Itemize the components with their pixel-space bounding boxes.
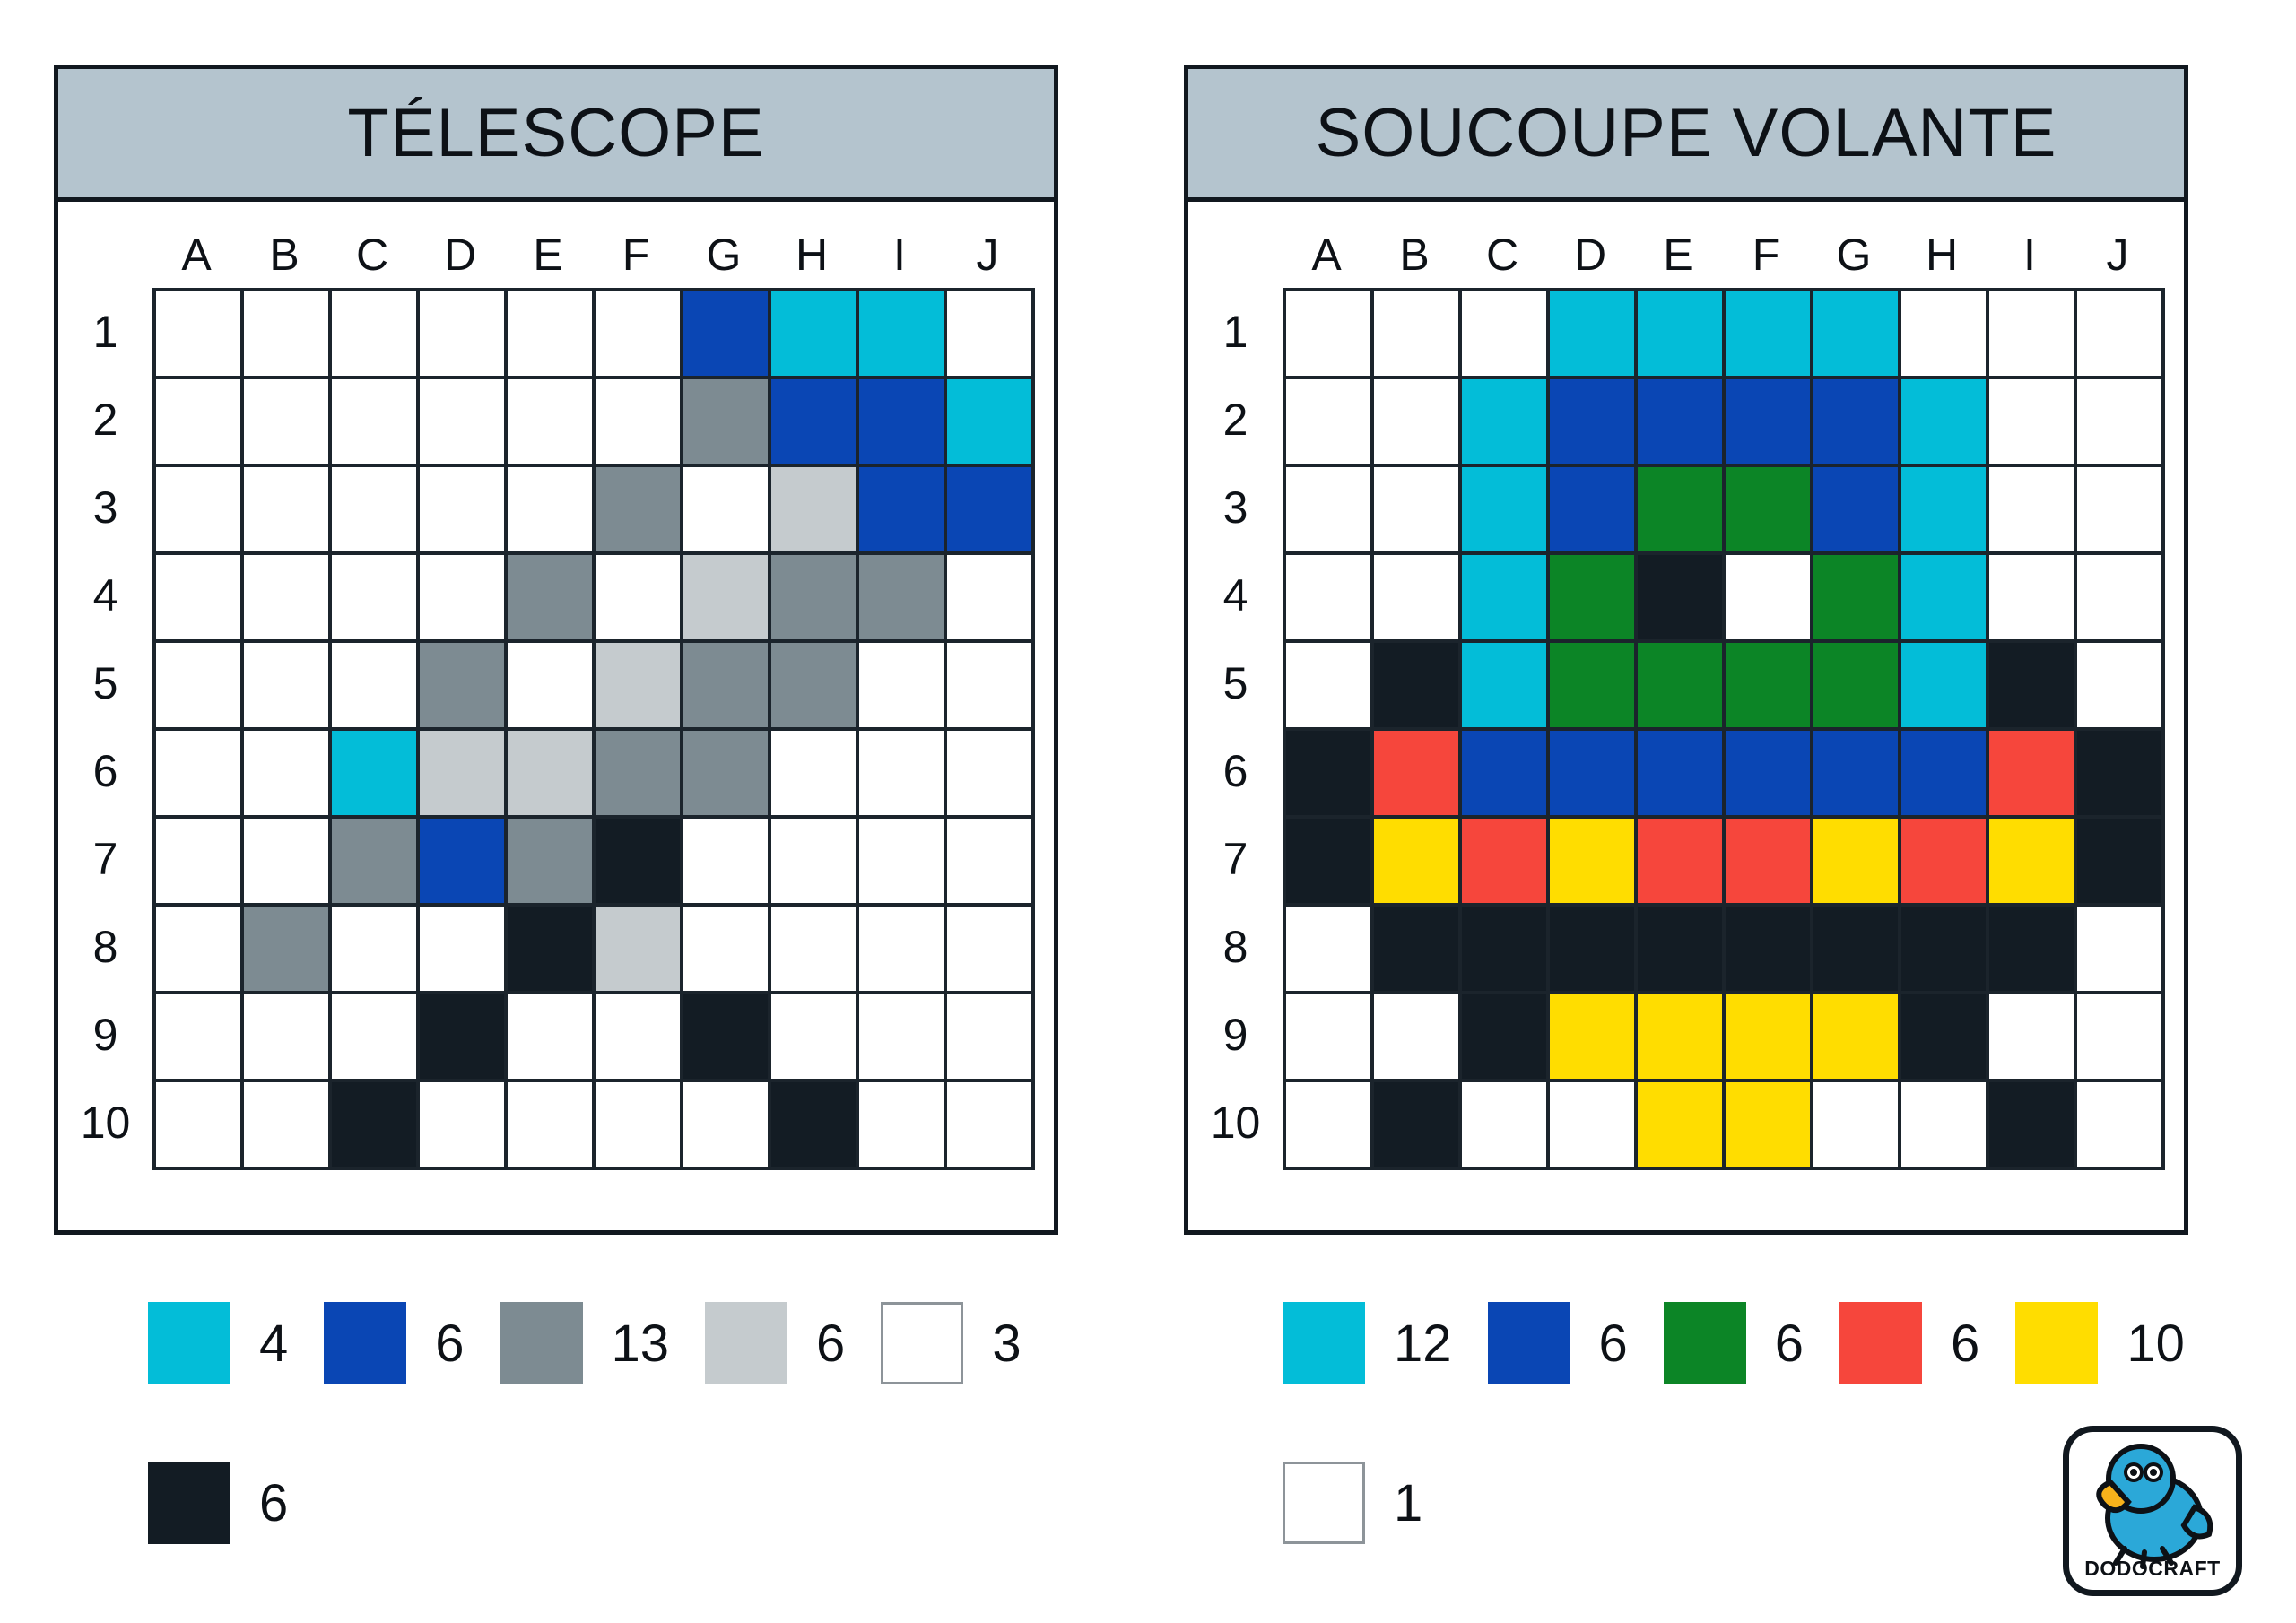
grid-cell-D8[interactable]: [1550, 907, 1638, 994]
grid-cell-D3[interactable]: [1550, 467, 1638, 555]
grid-cell-G10[interactable]: [1813, 1082, 1901, 1170]
grid-cell-E3[interactable]: [508, 467, 596, 555]
row-header-4: 4: [58, 551, 152, 639]
grid-cell-E2[interactable]: [1638, 379, 1726, 467]
grid-cell-I8[interactable]: [859, 907, 947, 994]
grid-cell-C4[interactable]: [332, 555, 420, 643]
grid-cell-J1[interactable]: [2077, 291, 2165, 379]
grid-cell-I3[interactable]: [859, 467, 947, 555]
grid-cell-J6[interactable]: [947, 731, 1035, 819]
grid-cell-A10[interactable]: [156, 1082, 244, 1170]
legend-soucoupe-row-2: 1: [1283, 1462, 1458, 1544]
grid-cell-D9[interactable]: [1550, 994, 1638, 1082]
grid-cell-B10[interactable]: [1374, 1082, 1462, 1170]
grid-cell-E2[interactable]: [508, 379, 596, 467]
grid-cell-C3[interactable]: [1462, 467, 1550, 555]
grid-cell-B1[interactable]: [244, 291, 332, 379]
grid-cell-F8[interactable]: [1726, 907, 1813, 994]
grid-cell-I1[interactable]: [859, 291, 947, 379]
legend-item-blue: 6: [324, 1302, 464, 1384]
grid-cell-B8[interactable]: [1374, 907, 1462, 994]
row-headers: 12345678910: [1188, 288, 1283, 1170]
legend-swatch-yellow: [2015, 1302, 2098, 1384]
grid-cell-C3[interactable]: [332, 467, 420, 555]
grid-cell-H2[interactable]: [1901, 379, 1989, 467]
grid-cell-D9[interactable]: [420, 994, 508, 1082]
grid-cell-F7[interactable]: [1726, 819, 1813, 907]
grid-cell-A2[interactable]: [156, 379, 244, 467]
legend-swatch-blue: [1488, 1302, 1570, 1384]
row-header-1: 1: [58, 288, 152, 376]
legend-count: 4: [259, 1314, 288, 1374]
column-header-c: C: [328, 229, 416, 281]
row-header-4: 4: [1188, 551, 1283, 639]
grid-cell-F10[interactable]: [1726, 1082, 1813, 1170]
grid-cell-G8[interactable]: [683, 907, 771, 994]
grid-cell-A6[interactable]: [1286, 731, 1374, 819]
grid-cell-J3[interactable]: [2077, 467, 2165, 555]
grid-cell-G9[interactable]: [683, 994, 771, 1082]
grid-cell-G2[interactable]: [1813, 379, 1901, 467]
legend-count: 6: [816, 1314, 845, 1374]
row-headers: 12345678910: [58, 288, 152, 1170]
grid-cell-A6[interactable]: [156, 731, 244, 819]
legend-count: 10: [2126, 1314, 2185, 1374]
row-header-5: 5: [1188, 639, 1283, 727]
grid-cell-J5[interactable]: [947, 643, 1035, 731]
grid-cell-H1[interactable]: [1901, 291, 1989, 379]
grid-cell-E3[interactable]: [1638, 467, 1726, 555]
grid-cell-H5[interactable]: [1901, 643, 1989, 731]
grid-cell-B5[interactable]: [244, 643, 332, 731]
legend-item-black: 6: [148, 1462, 288, 1544]
grid-cell-E4[interactable]: [508, 555, 596, 643]
grid-cell-F6[interactable]: [1726, 731, 1813, 819]
grid-cell-E10[interactable]: [1638, 1082, 1726, 1170]
legend-telescope-row-1: 461363: [148, 1302, 1057, 1384]
grid-cell-H10[interactable]: [1901, 1082, 1989, 1170]
legend-count: 6: [1775, 1314, 1804, 1374]
legend-item-lightgray: 6: [705, 1302, 845, 1384]
grid-cell-F1[interactable]: [596, 291, 683, 379]
grid-cell-H10[interactable]: [771, 1082, 859, 1170]
legend-count: 6: [1599, 1314, 1628, 1374]
grid-cell-I7[interactable]: [859, 819, 947, 907]
row-header-3: 3: [58, 464, 152, 551]
column-header-h: H: [768, 229, 856, 281]
grid-cell-C10[interactable]: [332, 1082, 420, 1170]
grid-cell-E9[interactable]: [1638, 994, 1726, 1082]
grid-cell-I1[interactable]: [1989, 291, 2077, 379]
grid-cell-E7[interactable]: [508, 819, 596, 907]
grid-cell-B9[interactable]: [244, 994, 332, 1082]
grid-cell-G7[interactable]: [1813, 819, 1901, 907]
grid-cell-F2[interactable]: [1726, 379, 1813, 467]
grid-cell-J5[interactable]: [2077, 643, 2165, 731]
column-header-g: G: [680, 229, 768, 281]
legend-swatch-red: [1839, 1302, 1922, 1384]
grid-cell-F5[interactable]: [596, 643, 683, 731]
grid-cell-E5[interactable]: [508, 643, 596, 731]
grid-cell-G9[interactable]: [1813, 994, 1901, 1082]
grid-block-telescope: ABCDEFGHIJ 12345678910: [58, 202, 1054, 1170]
grid-cell-J6[interactable]: [2077, 731, 2165, 819]
grid-cell-J4[interactable]: [2077, 555, 2165, 643]
grid-cell-B5[interactable]: [1374, 643, 1462, 731]
column-headers: ABCDEFGHIJ: [1283, 221, 2184, 288]
grid-cell-C2[interactable]: [1462, 379, 1550, 467]
grid-cell-A3[interactable]: [1286, 467, 1374, 555]
grid-cell-E5[interactable]: [1638, 643, 1726, 731]
page-title: TÉLESCOPE: [347, 94, 764, 172]
column-header-j: J: [2074, 229, 2161, 281]
grid-cell-E4[interactable]: [1638, 555, 1726, 643]
grid-cell-F8[interactable]: [596, 907, 683, 994]
grid-cell-H3[interactable]: [1901, 467, 1989, 555]
grid-cell-G2[interactable]: [683, 379, 771, 467]
grid-cell-B10[interactable]: [244, 1082, 332, 1170]
grid-cell-F3[interactable]: [1726, 467, 1813, 555]
grid-cell-A3[interactable]: [156, 467, 244, 555]
grid-cell-H1[interactable]: [771, 291, 859, 379]
grid-cell-B2[interactable]: [244, 379, 332, 467]
legend-item-yellow: 10: [2015, 1302, 2185, 1384]
grid-cell-J9[interactable]: [947, 994, 1035, 1082]
grid-cell-A4[interactable]: [156, 555, 244, 643]
grid-cell-J7[interactable]: [2077, 819, 2165, 907]
column-header-i: I: [856, 229, 944, 281]
legend-swatch-cyan: [1283, 1302, 1365, 1384]
grid-cell-B8[interactable]: [244, 907, 332, 994]
column-header-c: C: [1458, 229, 1546, 281]
grid-cell-B1[interactable]: [1374, 291, 1462, 379]
grid-cell-G3[interactable]: [683, 467, 771, 555]
grid-cell-G3[interactable]: [1813, 467, 1901, 555]
pixel-grid[interactable]: [152, 288, 1035, 1170]
legend-item-white: 3: [881, 1302, 1021, 1384]
grid-cell-B2[interactable]: [1374, 379, 1462, 467]
dodocraft-logo[interactable]: DODOCRAFT: [2063, 1426, 2242, 1596]
grid-cell-A5[interactable]: [156, 643, 244, 731]
grid-cell-C4[interactable]: [1462, 555, 1550, 643]
grid-cell-I4[interactable]: [859, 555, 947, 643]
grid-cell-C8[interactable]: [1462, 907, 1550, 994]
column-header-j: J: [944, 229, 1031, 281]
grid-cell-I10[interactable]: [859, 1082, 947, 1170]
legend-item-blue: 6: [1488, 1302, 1628, 1384]
row-header-8: 8: [58, 903, 152, 991]
grid-cell-I8[interactable]: [1989, 907, 2077, 994]
grid-cell-A7[interactable]: [156, 819, 244, 907]
grid-cell-D7[interactable]: [1550, 819, 1638, 907]
column-header-d: D: [416, 229, 504, 281]
legend-item-green: 6: [1664, 1302, 1804, 1384]
grid-cell-C1[interactable]: [332, 291, 420, 379]
grid-cell-A9[interactable]: [1286, 994, 1374, 1082]
grid-cell-D5[interactable]: [420, 643, 508, 731]
legend-count: 1: [1394, 1473, 1422, 1533]
grid-cell-E1[interactable]: [508, 291, 596, 379]
grid-cell-I6[interactable]: [1989, 731, 2077, 819]
grid-cell-A2[interactable]: [1286, 379, 1374, 467]
grid-cell-F4[interactable]: [1726, 555, 1813, 643]
grid-cell-C9[interactable]: [1462, 994, 1550, 1082]
grid-cell-I2[interactable]: [859, 379, 947, 467]
grid-cell-A1[interactable]: [156, 291, 244, 379]
grid-cell-I4[interactable]: [1989, 555, 2077, 643]
row-header-3: 3: [1188, 464, 1283, 551]
grid-cell-I5[interactable]: [859, 643, 947, 731]
grid-cell-H4[interactable]: [1901, 555, 1989, 643]
grid-cell-J8[interactable]: [2077, 907, 2165, 994]
grid-cell-H7[interactable]: [771, 819, 859, 907]
row-header-2: 2: [1188, 376, 1283, 464]
row-header-7: 7: [1188, 815, 1283, 903]
row-header-6: 6: [1188, 727, 1283, 815]
grid-cell-D1[interactable]: [420, 291, 508, 379]
grid-cell-F2[interactable]: [596, 379, 683, 467]
grid-cell-H9[interactable]: [771, 994, 859, 1082]
grid-cell-D4[interactable]: [420, 555, 508, 643]
grid-cell-B6[interactable]: [244, 731, 332, 819]
grid-cell-B7[interactable]: [1374, 819, 1462, 907]
grid-cell-G6[interactable]: [1813, 731, 1901, 819]
grid-cell-E9[interactable]: [508, 994, 596, 1082]
panel-soucoupe-volante: SOUCOUPE VOLANTE ABCDEFGHIJ 12345678910: [1184, 65, 2188, 1235]
grid-cell-J10[interactable]: [947, 1082, 1035, 1170]
grid-cell-C6[interactable]: [332, 731, 420, 819]
grid-cell-C5[interactable]: [1462, 643, 1550, 731]
column-headers: ABCDEFGHIJ: [152, 221, 1054, 288]
row-header-9: 9: [1188, 991, 1283, 1079]
grid-cell-I9[interactable]: [859, 994, 947, 1082]
grid-cell-G4[interactable]: [1813, 555, 1901, 643]
grid-cell-H4[interactable]: [771, 555, 859, 643]
legend-item-red: 6: [1839, 1302, 1979, 1384]
grid-cell-F10[interactable]: [596, 1082, 683, 1170]
column-header-a: A: [152, 229, 240, 281]
column-header-e: E: [1634, 229, 1722, 281]
worksheet-page: TÉLESCOPE ABCDEFGHIJ 12345678910 SOUCOUP…: [0, 0, 2296, 1623]
row-header-5: 5: [58, 639, 152, 727]
grid-cell-H9[interactable]: [1901, 994, 1989, 1082]
grid-cell-I2[interactable]: [1989, 379, 2077, 467]
grid-cell-D10[interactable]: [1550, 1082, 1638, 1170]
legend-item-white: 1: [1283, 1462, 1422, 1544]
column-header-f: F: [592, 229, 680, 281]
grid-cell-A10[interactable]: [1286, 1082, 1374, 1170]
legend-swatch-white: [881, 1302, 963, 1384]
grid-cell-F6[interactable]: [596, 731, 683, 819]
panel-title-bar: TÉLESCOPE: [58, 69, 1054, 202]
legend-count: 12: [1394, 1314, 1452, 1374]
grid-cell-B4[interactable]: [1374, 555, 1462, 643]
row-header-10: 10: [1188, 1079, 1283, 1167]
grid-cell-D3[interactable]: [420, 467, 508, 555]
row-header-7: 7: [58, 815, 152, 903]
grid-cell-H6[interactable]: [771, 731, 859, 819]
legend-swatch-black: [148, 1462, 230, 1544]
panel-telescope: TÉLESCOPE ABCDEFGHIJ 12345678910: [54, 65, 1058, 1235]
column-header-i: I: [1986, 229, 2074, 281]
grid-cell-C2[interactable]: [332, 379, 420, 467]
row-header-6: 6: [58, 727, 152, 815]
grid-cell-G4[interactable]: [683, 555, 771, 643]
grid-cell-G1[interactable]: [1813, 291, 1901, 379]
grid-cell-G1[interactable]: [683, 291, 771, 379]
page-title: SOUCOUPE VOLANTE: [1316, 94, 2057, 172]
column-header-f: F: [1722, 229, 1810, 281]
row-header-9: 9: [58, 991, 152, 1079]
grid-cell-A1[interactable]: [1286, 291, 1374, 379]
grid-cell-H6[interactable]: [1901, 731, 1989, 819]
grid-cell-G7[interactable]: [683, 819, 771, 907]
grid-cell-C7[interactable]: [1462, 819, 1550, 907]
legend-swatch-white: [1283, 1462, 1365, 1544]
grid-cell-B4[interactable]: [244, 555, 332, 643]
grid-cell-H3[interactable]: [771, 467, 859, 555]
legend-item-cyan: 4: [148, 1302, 288, 1384]
grid-cell-G6[interactable]: [683, 731, 771, 819]
legend-swatch-blue: [324, 1302, 406, 1384]
legend-count: 6: [259, 1473, 288, 1533]
legend-soucoupe-row-1: 1266610: [1283, 1302, 2221, 1384]
legend-item-gray: 13: [500, 1302, 670, 1384]
grid-cell-J3[interactable]: [947, 467, 1035, 555]
row-header-2: 2: [58, 376, 152, 464]
grid-cell-I7[interactable]: [1989, 819, 2077, 907]
grid-cell-D6[interactable]: [420, 731, 508, 819]
legend-count: 3: [992, 1314, 1021, 1374]
grid-cell-E10[interactable]: [508, 1082, 596, 1170]
grid-cell-B9[interactable]: [1374, 994, 1462, 1082]
grid-cell-I9[interactable]: [1989, 994, 2077, 1082]
grid-cell-C8[interactable]: [332, 907, 420, 994]
grid-cell-B6[interactable]: [1374, 731, 1462, 819]
grid-cell-F3[interactable]: [596, 467, 683, 555]
grid-cell-A8[interactable]: [156, 907, 244, 994]
grid-cell-C10[interactable]: [1462, 1082, 1550, 1170]
grid-cell-H8[interactable]: [1901, 907, 1989, 994]
grid-cell-F4[interactable]: [596, 555, 683, 643]
grid-cell-A4[interactable]: [1286, 555, 1374, 643]
row-header-10: 10: [58, 1079, 152, 1167]
legend-swatch-green: [1664, 1302, 1746, 1384]
grid-cell-I3[interactable]: [1989, 467, 2077, 555]
grid-cell-J9[interactable]: [2077, 994, 2165, 1082]
grid-cell-E8[interactable]: [508, 907, 596, 994]
pixel-grid[interactable]: [1283, 288, 2165, 1170]
grid-cell-H5[interactable]: [771, 643, 859, 731]
grid-cell-C1[interactable]: [1462, 291, 1550, 379]
grid-cell-I5[interactable]: [1989, 643, 2077, 731]
grid-cell-C6[interactable]: [1462, 731, 1550, 819]
grid-cell-E6[interactable]: [508, 731, 596, 819]
grid-cell-A9[interactable]: [156, 994, 244, 1082]
grid-cell-G8[interactable]: [1813, 907, 1901, 994]
column-header-h: H: [1898, 229, 1986, 281]
grid-cell-E8[interactable]: [1638, 907, 1726, 994]
grid-cell-H8[interactable]: [771, 907, 859, 994]
grid-cell-J8[interactable]: [947, 907, 1035, 994]
legend-count: 6: [435, 1314, 464, 1374]
logo-wordmark: DODOCRAFT: [2069, 1557, 2236, 1581]
grid-cell-J1[interactable]: [947, 291, 1035, 379]
legend-count: 13: [612, 1314, 670, 1374]
grid-cell-B7[interactable]: [244, 819, 332, 907]
grid-cell-E1[interactable]: [1638, 291, 1726, 379]
column-header-g: G: [1810, 229, 1898, 281]
grid-cell-J7[interactable]: [947, 819, 1035, 907]
grid-cell-F7[interactable]: [596, 819, 683, 907]
column-header-d: D: [1546, 229, 1634, 281]
grid-cell-G5[interactable]: [1813, 643, 1901, 731]
grid-cell-D7[interactable]: [420, 819, 508, 907]
column-header-b: B: [240, 229, 328, 281]
grid-cell-D2[interactable]: [1550, 379, 1638, 467]
grid-cell-G10[interactable]: [683, 1082, 771, 1170]
grid-cell-D10[interactable]: [420, 1082, 508, 1170]
row-header-1: 1: [1188, 288, 1283, 376]
grid-cell-C5[interactable]: [332, 643, 420, 731]
grid-cell-D2[interactable]: [420, 379, 508, 467]
grid-cell-B3[interactable]: [1374, 467, 1462, 555]
column-header-e: E: [504, 229, 592, 281]
legend-item-cyan: 12: [1283, 1302, 1452, 1384]
legend-swatch-cyan: [148, 1302, 230, 1384]
column-header-b: B: [1370, 229, 1458, 281]
grid-cell-A8[interactable]: [1286, 907, 1374, 994]
grid-cell-A7[interactable]: [1286, 819, 1374, 907]
grid-cell-H2[interactable]: [771, 379, 859, 467]
grid-cell-H7[interactable]: [1901, 819, 1989, 907]
grid-cell-D5[interactable]: [1550, 643, 1638, 731]
grid-cell-G5[interactable]: [683, 643, 771, 731]
legend-count: 6: [1951, 1314, 1979, 1374]
grid-cell-D1[interactable]: [1550, 291, 1638, 379]
grid-cell-B3[interactable]: [244, 467, 332, 555]
grid-cell-J4[interactable]: [947, 555, 1035, 643]
grid-cell-J2[interactable]: [947, 379, 1035, 467]
grid-cell-F9[interactable]: [1726, 994, 1813, 1082]
grid-cell-D8[interactable]: [420, 907, 508, 994]
grid-cell-J10[interactable]: [2077, 1082, 2165, 1170]
grid-cell-C9[interactable]: [332, 994, 420, 1082]
column-header-a: A: [1283, 229, 1370, 281]
grid-cell-D6[interactable]: [1550, 731, 1638, 819]
grid-cell-F5[interactable]: [1726, 643, 1813, 731]
grid-cell-D4[interactable]: [1550, 555, 1638, 643]
grid-cell-F9[interactable]: [596, 994, 683, 1082]
grid-cell-C7[interactable]: [332, 819, 420, 907]
panel-title-bar: SOUCOUPE VOLANTE: [1188, 69, 2184, 202]
row-header-8: 8: [1188, 903, 1283, 991]
grid-cell-E6[interactable]: [1638, 731, 1726, 819]
grid-cell-A5[interactable]: [1286, 643, 1374, 731]
legend-swatch-lightgray: [705, 1302, 787, 1384]
legend-telescope-row-2: 6: [148, 1462, 324, 1544]
grid-cell-I10[interactable]: [1989, 1082, 2077, 1170]
grid-block-soucoupe: ABCDEFGHIJ 12345678910: [1188, 202, 2184, 1170]
grid-cell-F1[interactable]: [1726, 291, 1813, 379]
grid-cell-E7[interactable]: [1638, 819, 1726, 907]
legend-swatch-gray: [500, 1302, 583, 1384]
grid-cell-J2[interactable]: [2077, 379, 2165, 467]
grid-cell-I6[interactable]: [859, 731, 947, 819]
